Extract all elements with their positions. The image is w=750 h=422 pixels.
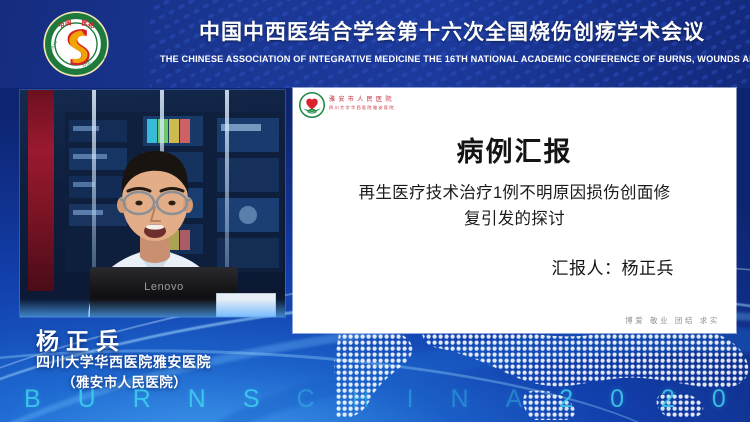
backdrop-red-column [28, 90, 54, 291]
slide-body-line-1: 再生医疗技术治疗1例不明原因损伤创面修 [333, 180, 696, 206]
conference-header-banner: 中国 医结 C.A.I.M INTEGRATIVE 中国中西医结合学会第十六次全… [0, 0, 750, 88]
speaker-affiliation-primary: 四川大学华西医院雅安医院 [36, 352, 211, 372]
slide-body-text: 再生医疗技术治疗1例不明原因损伤创面修 复引发的探讨 [333, 180, 696, 232]
header-title-cn: 中国中西医结合学会第十六次全国烧伤创疡学术会议 [0, 20, 744, 46]
broadcast-stage: 中国 医结 C.A.I.M INTEGRATIVE 中国中西医结合学会第十六次全… [0, 0, 750, 422]
slide-org-name: 雅安市人民医院 四川大学华西医院雅安医院 [329, 96, 395, 111]
speaker-affiliation-secondary: （雅安市人民医院） [62, 371, 187, 391]
slide-org-name-sub: 四川大学华西医院雅安医院 [329, 104, 395, 112]
video-bottom-glow [20, 299, 285, 317]
slide-presenter-line: 汇报人：杨正兵 [293, 254, 674, 279]
laptop-brand-label: Lenovo [90, 281, 238, 293]
slide-title: 病例汇报 [293, 130, 736, 169]
world-map-dots-icon [330, 322, 750, 422]
slide-motto: 博爱 敬业 团结 求实 [625, 315, 720, 326]
speaker-name: 杨正兵 [36, 322, 126, 356]
header-title-en: THE CHINESE ASSOCIATION OF INTEGRATIVE M… [0, 54, 744, 64]
hospital-emblem-icon [299, 92, 325, 118]
presentation-slide-pane[interactable]: 雅安市人民医院 四川大学华西医院雅安医院 病例汇报 再生医疗技术治疗1例不明原因… [293, 88, 736, 333]
slide-body-line-2: 复引发的探讨 [333, 206, 696, 232]
slide-org-name-cn: 雅安市人民医院 [329, 96, 395, 103]
speaker-video-pane[interactable]: Lenovo [20, 90, 285, 317]
